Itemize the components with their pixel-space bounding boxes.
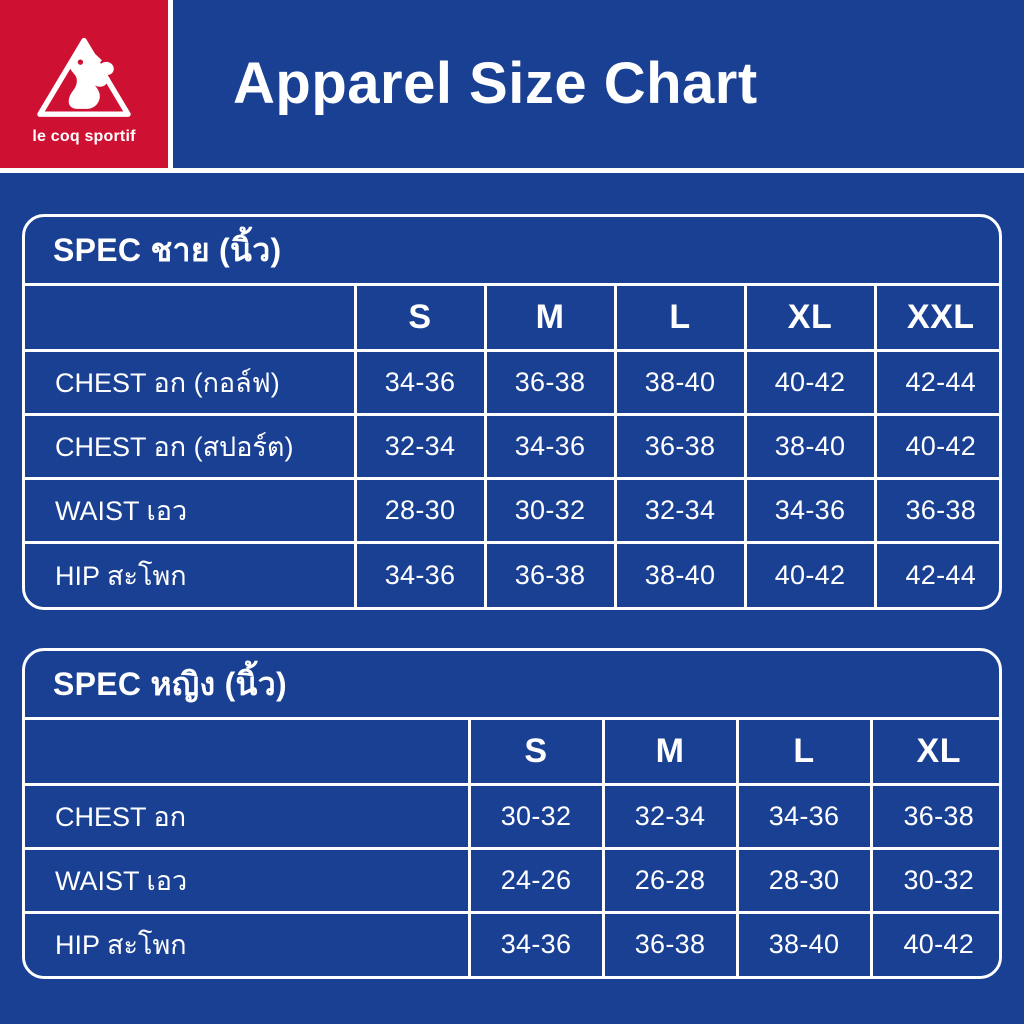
men-size-header-xl: XL [745, 285, 875, 351]
brand-logo-block: le coq sportif [0, 0, 168, 168]
men-row-label-waist: WAIST เอว [25, 479, 355, 543]
table-row: WAIST เอว 24-26 26-28 28-30 30-32 [25, 848, 1002, 912]
table-row: WAIST เอว 28-30 30-32 32-34 34-36 36-38 [25, 479, 1002, 543]
women-chest-s: 30-32 [469, 784, 603, 848]
men-size-header-s: S [355, 285, 485, 351]
table-header-row: S M L XL [25, 718, 1002, 784]
spec-table-men: SPEC ชาย (นิ้ว) S M L XL XXL CHEST อก (ก… [22, 214, 1002, 610]
table-row: HIP สะโพก 34-36 36-38 38-40 40-42 [25, 912, 1002, 976]
women-hip-xl: 40-42 [871, 912, 1002, 976]
women-waist-m: 26-28 [603, 848, 737, 912]
men-chest-golf-l: 38-40 [615, 351, 745, 415]
men-chest-golf-m: 36-38 [485, 351, 615, 415]
men-size-header-m: M [485, 285, 615, 351]
men-chest-sport-l: 36-38 [615, 415, 745, 479]
table-row: HIP สะโพก 34-36 36-38 38-40 40-42 42-44 [25, 543, 1002, 607]
table-header-row: S M L XL XXL [25, 285, 1002, 351]
men-waist-s: 28-30 [355, 479, 485, 543]
women-hip-m: 36-38 [603, 912, 737, 976]
women-waist-l: 28-30 [737, 848, 871, 912]
men-hip-m: 36-38 [485, 543, 615, 607]
women-size-header-l: L [737, 718, 871, 784]
men-row-label-hip: HIP สะโพก [25, 543, 355, 607]
men-size-grid: S M L XL XXL CHEST อก (กอล์ฟ) 34-36 36-3… [25, 283, 1002, 607]
men-hip-xl: 40-42 [745, 543, 875, 607]
men-hip-s: 34-36 [355, 543, 485, 607]
women-hip-s: 34-36 [469, 912, 603, 976]
men-row-label-chest-golf: CHEST อก (กอล์ฟ) [25, 351, 355, 415]
men-size-header-xxl: XXL [875, 285, 1002, 351]
men-chest-golf-s: 34-36 [355, 351, 485, 415]
women-size-grid: S M L XL CHEST อก 30-32 32-34 34-36 36-3… [25, 717, 1002, 977]
le-coq-sportif-logo: le coq sportif [22, 22, 146, 146]
men-chest-sport-xl: 38-40 [745, 415, 875, 479]
header-horizontal-rule [0, 168, 1024, 173]
women-hip-l: 38-40 [737, 912, 871, 976]
men-waist-m: 30-32 [485, 479, 615, 543]
men-row-label-chest-sport: CHEST อก (สปอร์ต) [25, 415, 355, 479]
spec-table-women: SPEC หญิง (นิ้ว) S M L XL CHEST อก 30-32… [22, 648, 1002, 980]
men-chest-sport-s: 32-34 [355, 415, 485, 479]
spec-table-women-title: SPEC หญิง (นิ้ว) [25, 651, 999, 717]
table-row: CHEST อก (กอล์ฟ) 34-36 36-38 38-40 40-42… [25, 351, 1002, 415]
men-hip-l: 38-40 [615, 543, 745, 607]
women-size-header-xl: XL [871, 718, 1002, 784]
women-row-label-hip: HIP สะโพก [25, 912, 469, 976]
men-size-header-l: L [615, 285, 745, 351]
women-waist-xl: 30-32 [871, 848, 1002, 912]
women-row-label-chest: CHEST อก [25, 784, 469, 848]
women-size-header-m: M [603, 718, 737, 784]
men-label-column-header [25, 285, 355, 351]
men-hip-xxl: 42-44 [875, 543, 1002, 607]
men-chest-sport-xxl: 40-42 [875, 415, 1002, 479]
men-chest-golf-xxl: 42-44 [875, 351, 1002, 415]
logo-wordmark: le coq sportif [32, 128, 135, 146]
men-chest-golf-xl: 40-42 [745, 351, 875, 415]
women-chest-xl: 36-38 [871, 784, 1002, 848]
men-waist-l: 32-34 [615, 479, 745, 543]
men-chest-sport-m: 34-36 [485, 415, 615, 479]
men-waist-xxl: 36-38 [875, 479, 1002, 543]
rooster-triangle-icon [25, 28, 143, 134]
page-header: le coq sportif Apparel Size Chart [0, 0, 1024, 168]
page-title: Apparel Size Chart [233, 55, 758, 113]
spec-table-men-title: SPEC ชาย (นิ้ว) [25, 217, 999, 283]
table-row: CHEST อก (สปอร์ต) 32-34 34-36 36-38 38-4… [25, 415, 1002, 479]
men-waist-xl: 34-36 [745, 479, 875, 543]
size-chart-content: SPEC ชาย (นิ้ว) S M L XL XXL CHEST อก (ก… [0, 214, 1024, 979]
women-chest-l: 34-36 [737, 784, 871, 848]
women-row-label-waist: WAIST เอว [25, 848, 469, 912]
women-size-header-s: S [469, 718, 603, 784]
table-row: CHEST อก 30-32 32-34 34-36 36-38 [25, 784, 1002, 848]
title-block: Apparel Size Chart [173, 0, 1024, 168]
women-label-column-header [25, 718, 469, 784]
women-chest-m: 32-34 [603, 784, 737, 848]
women-waist-s: 24-26 [469, 848, 603, 912]
